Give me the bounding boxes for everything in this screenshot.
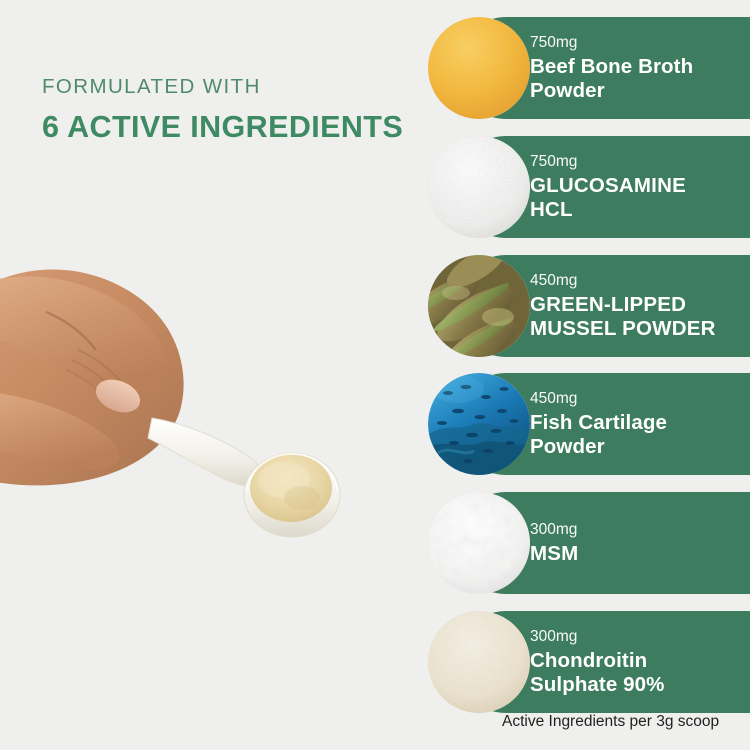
- chondroitin-powder-circle: [428, 611, 530, 713]
- ingredient-text: 750mg GLUCOSAMINE HCL: [530, 136, 745, 238]
- beef-bone-broth-circle: [428, 17, 530, 119]
- ingredient-row: 300mg MSM: [0, 492, 750, 594]
- ingredient-row: 450mg Fish Cartilage Powder: [0, 373, 750, 475]
- ingredient-list: 750mg Beef Bone Broth Powder: [0, 0, 750, 750]
- footer-note: Active Ingredients per 3g scoop: [502, 713, 719, 731]
- ingredient-name: MSM: [530, 542, 745, 566]
- ingredient-text: 300mg MSM: [530, 492, 745, 594]
- ingredient-row: 750mg GLUCOSAMINE HCL: [0, 136, 750, 238]
- ingredient-row: 750mg Beef Bone Broth Powder: [0, 17, 750, 119]
- ingredient-dose: 300mg: [530, 520, 745, 541]
- fish-cartilage-ocean-circle: [428, 373, 530, 475]
- ingredient-name-line: Sulphate 90%: [530, 673, 665, 696]
- ingredient-name-line: MUSSEL POWDER: [530, 317, 716, 340]
- ingredient-text: 450mg Fish Cartilage Powder: [530, 373, 745, 475]
- ingredient-row: 300mg Chondroitin Sulphate 90%: [0, 611, 750, 713]
- ingredient-dose: 450mg: [530, 389, 745, 410]
- glucosamine-powder-circle: [428, 136, 530, 238]
- ingredient-name-line: Powder: [530, 435, 605, 458]
- ingredient-name-line: GLUCOSAMINE: [530, 174, 686, 197]
- ingredient-name: Beef Bone Broth Powder: [530, 55, 745, 103]
- green-lipped-mussel-circle: [428, 255, 530, 357]
- ingredient-name: Chondroitin Sulphate 90%: [530, 649, 745, 697]
- ingredient-row: 450mg GREEN-LIPPED MUSSEL POWDER: [0, 255, 750, 357]
- ingredient-text: 300mg Chondroitin Sulphate 90%: [530, 611, 745, 713]
- ingredient-name-line: HCL: [530, 198, 573, 221]
- ingredient-name-line: Powder: [530, 79, 605, 102]
- ingredient-dose: 750mg: [530, 33, 745, 54]
- ingredient-text: 750mg Beef Bone Broth Powder: [530, 17, 745, 119]
- ingredient-name: GLUCOSAMINE HCL: [530, 174, 745, 222]
- ingredient-name: GREEN-LIPPED MUSSEL POWDER: [530, 293, 745, 341]
- ingredient-text: 450mg GREEN-LIPPED MUSSEL POWDER: [530, 255, 745, 357]
- ingredient-dose: 450mg: [530, 271, 745, 292]
- ingredient-name-line: Fish Cartilage: [530, 411, 667, 434]
- ingredient-dose: 750mg: [530, 152, 745, 173]
- msm-powder-circle: [428, 492, 530, 594]
- ingredient-name: Fish Cartilage Powder: [530, 411, 745, 459]
- ingredient-name-line: Chondroitin: [530, 649, 647, 672]
- ingredient-name-line: GREEN-LIPPED: [530, 293, 686, 316]
- ingredient-name-line: Beef Bone Broth: [530, 55, 693, 78]
- ingredient-dose: 300mg: [530, 627, 745, 648]
